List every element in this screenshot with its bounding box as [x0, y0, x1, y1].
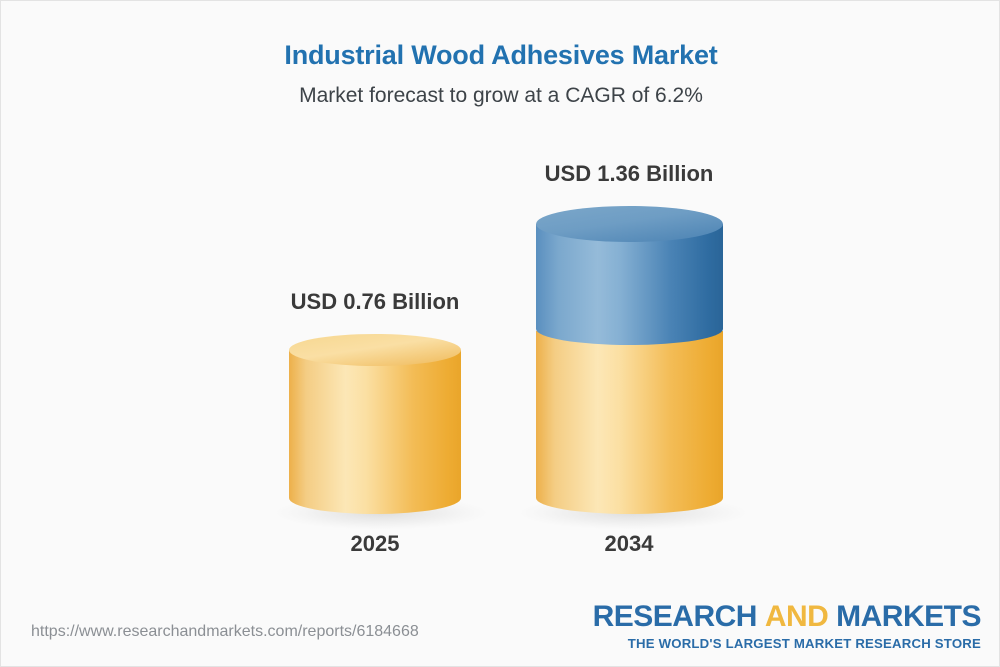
bar-2025	[289, 334, 461, 514]
category-label-2034: 2034	[529, 531, 729, 557]
brand-logo[interactable]: RESEARCH AND MARKETS THE WORLD'S LARGEST…	[593, 602, 981, 650]
brand-logo-research: RESEARCH	[593, 600, 757, 633]
cylinder-chart-svg	[1, 1, 1000, 667]
brand-logo-wordmark: RESEARCH AND MARKETS	[593, 602, 981, 632]
bar-value-label-2025: USD 0.76 Billion	[275, 289, 475, 315]
category-label-2025: 2025	[275, 531, 475, 557]
brand-logo-tagline: THE WORLD'S LARGEST MARKET RESEARCH STOR…	[593, 637, 981, 650]
bar-chart-plot-area	[1, 1, 1000, 667]
bar-2034-top-cap	[536, 206, 723, 242]
bar-2034	[536, 206, 723, 514]
bar-2025-top-cap	[289, 334, 461, 366]
bar-2025-body	[289, 350, 461, 514]
bar-2034-segment-growth	[536, 224, 723, 345]
brand-logo-and: AND	[765, 600, 829, 633]
bar-2034-segment-base	[536, 331, 723, 514]
brand-logo-markets: MARKETS	[836, 600, 981, 633]
infographic-canvas: Industrial Wood Adhesives Market Market …	[0, 0, 1000, 667]
bar-value-label-2034: USD 1.36 Billion	[529, 161, 729, 187]
report-url[interactable]: https://www.researchandmarkets.com/repor…	[31, 623, 419, 641]
